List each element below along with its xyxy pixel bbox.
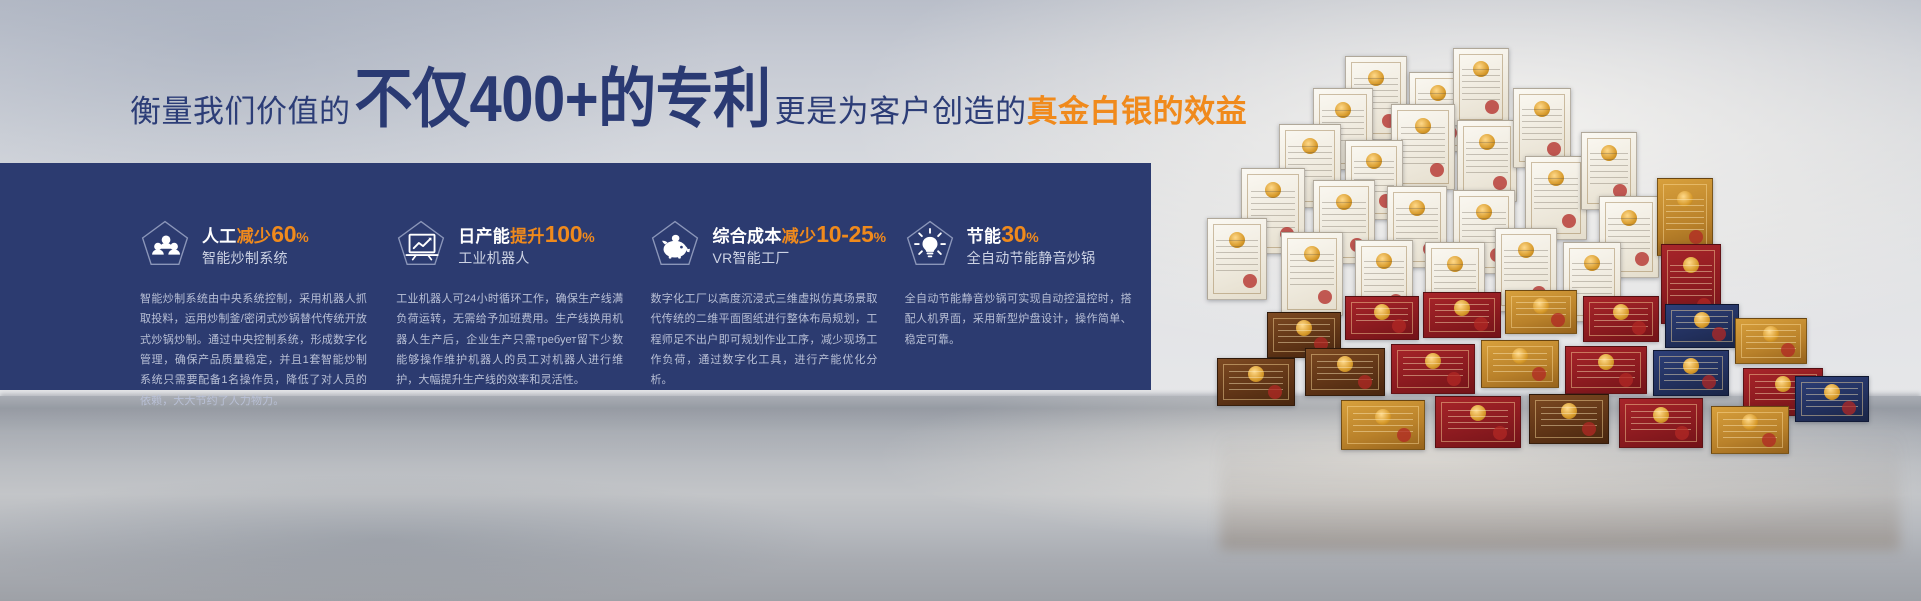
certificate-item: [1217, 358, 1295, 406]
feature-title-lead: 日产能: [458, 227, 510, 246]
feature-title-number: 10-25: [816, 221, 873, 247]
piggy-bank-icon: [650, 219, 700, 269]
feature-title-unit: %: [1026, 229, 1039, 245]
feature-title-unit: %: [874, 229, 887, 245]
feature-title-accent: 减少: [782, 227, 817, 246]
feature-title-number: 100: [545, 221, 582, 247]
certificate-item: [1665, 304, 1739, 348]
feature-subtitle: 工业机器人: [458, 250, 530, 266]
headline-middle: 更是为客户创造的: [775, 96, 1027, 127]
certificate-item: [1481, 340, 1559, 388]
feature-body-text: 工业机器人可24小时循环工作，确保生产线满负荷运转，无需给予加班费用。生产线换用…: [396, 289, 623, 391]
certificate-item: [1795, 376, 1869, 422]
certificate-item: [1735, 318, 1807, 364]
headline-lead: 衡量我们价值的: [130, 96, 351, 127]
feature-title: 综合成本减少10-25%: [712, 227, 886, 246]
feature-header: 人工减少60% 智能炒制系统: [140, 215, 396, 273]
certificate-item: [1305, 348, 1385, 396]
headline-highlight: 真金白银的效益: [1027, 96, 1248, 127]
feature-item-1: 人工减少60% 智能炒制系统 智能炒制系统由中央系统控制，采用机器人抓取投料，运…: [140, 163, 396, 390]
certificate-item: [1653, 350, 1729, 396]
certificate-award-stack: [1195, 28, 1921, 458]
feature-title-group: 日产能提升100% 工业机器人: [458, 221, 650, 268]
feature-title-number: 30: [1001, 221, 1026, 247]
lightbulb-icon: [905, 219, 955, 269]
feature-body-text: 全自动节能静音炒锅可实现自动控温控时，搭配人机界面，采用新型炉盘设计，操作简单、…: [905, 289, 1132, 350]
certificate-item: [1345, 296, 1419, 340]
certificate-item: [1281, 232, 1343, 316]
feature-panel: 人工减少60% 智能炒制系统 智能炒制系统由中央系统控制，采用机器人抓取投料，运…: [0, 163, 1151, 390]
certificate-item: [1423, 292, 1501, 338]
certificate-item: [1391, 344, 1475, 394]
certificate-item: [1565, 346, 1647, 394]
feature-title: 人工减少60%: [202, 227, 309, 246]
page-title: 衡量我们价值的 不仅400+的专利 更是为客户创造的 真金白银的效益: [130, 74, 1247, 136]
certificate-item: [1505, 290, 1577, 334]
certificate-item: [1207, 218, 1267, 300]
feature-subtitle: 智能炒制系统: [202, 250, 288, 266]
certificate-item: [1529, 394, 1609, 444]
feature-title-group: 人工减少60% 智能炒制系统: [202, 221, 396, 268]
chart-presentation-icon: [396, 219, 446, 269]
certificate-item: [1583, 296, 1659, 342]
feature-title-group: 节能30% 全自动节能静音炒锅: [967, 221, 1151, 268]
feature-header: 节能30% 全自动节能静音炒锅: [905, 215, 1151, 273]
feature-header: 综合成本减少10-25% VR智能工厂: [650, 215, 904, 273]
feature-body-text: 数字化工厂以高度沉浸式三维虚拟仿真场景取代传统的二维平面图纸进行整体布局规划，工…: [650, 289, 877, 391]
feature-title-lead: 节能: [967, 227, 1002, 246]
feature-body-text: 智能炒制系统由中央系统控制，采用机器人抓取投料，运用炒制釜/密闭式炒锅替代传统开…: [140, 289, 367, 411]
headline-emphasis: 不仅400+的专利: [355, 67, 771, 132]
certificate-item: [1619, 398, 1703, 448]
people-group-icon: [140, 219, 190, 269]
feature-title-unit: %: [582, 229, 595, 245]
feature-title: 节能30%: [967, 227, 1039, 246]
feature-title-accent: 提升: [510, 227, 545, 246]
certificate-item: [1711, 406, 1789, 454]
feature-item-3: 综合成本减少10-25% VR智能工厂 数字化工厂以高度沉浸式三维虚拟仿真场景取…: [650, 163, 904, 390]
feature-header: 日产能提升100% 工业机器人: [396, 215, 650, 273]
feature-title: 日产能提升100%: [458, 227, 595, 246]
certificate-item: [1341, 400, 1425, 450]
feature-title-unit: %: [296, 229, 309, 245]
feature-title-number: 60: [271, 221, 296, 247]
feature-title-accent: 减少: [237, 227, 272, 246]
feature-subtitle: VR智能工厂: [712, 250, 789, 266]
feature-title-group: 综合成本减少10-25% VR智能工厂: [712, 221, 904, 268]
feature-item-4: 节能30% 全自动节能静音炒锅 全自动节能静音炒锅可实现自动控温控时，搭配人机界…: [905, 163, 1151, 390]
banner-stage: 衡量我们价值的 不仅400+的专利 更是为客户创造的 真金白银的效益 人工减少6…: [0, 0, 1921, 601]
certificate-item: [1453, 48, 1509, 126]
certificate-stack-reflection: [1220, 430, 1900, 550]
certificate-item: [1435, 396, 1521, 448]
feature-item-2: 日产能提升100% 工业机器人 工业机器人可24小时循环工作，确保生产线满负荷运…: [396, 163, 650, 390]
feature-title-lead: 综合成本: [712, 227, 781, 246]
feature-list: 人工减少60% 智能炒制系统 智能炒制系统由中央系统控制，采用机器人抓取投料，运…: [0, 163, 1151, 390]
feature-title-lead: 人工: [202, 227, 237, 246]
feature-subtitle: 全自动节能静音炒锅: [967, 250, 1096, 266]
